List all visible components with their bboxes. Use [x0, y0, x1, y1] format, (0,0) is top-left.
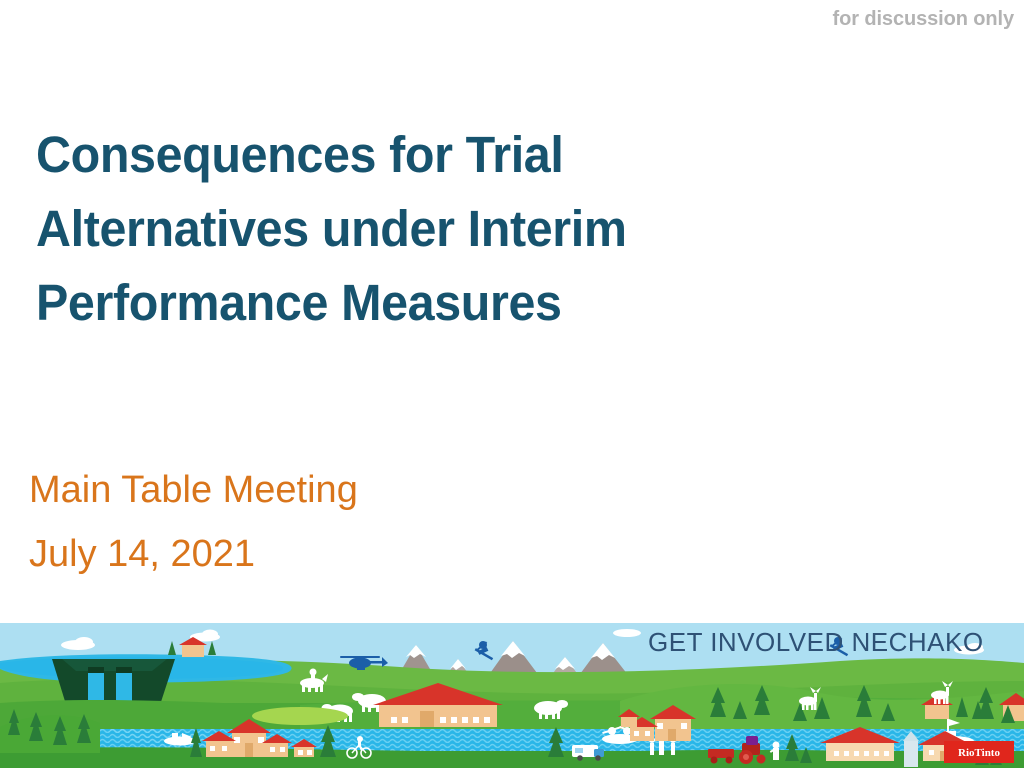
svg-text:RioTinto: RioTinto — [958, 747, 1000, 759]
meadow-patch — [252, 707, 348, 725]
discussion-only-note: for discussion only — [833, 8, 1014, 31]
title-line-3: Performance Measures — [36, 266, 730, 340]
subtitle: Main Table Meeting July 14, 2021 — [29, 458, 358, 586]
subtitle-date: July 14, 2021 — [29, 522, 358, 586]
title-line-1: Consequences for Trial — [36, 118, 730, 192]
page-title: Consequences for Trial Alternatives unde… — [36, 118, 766, 340]
nechako-banner-illustration: GET INVOLVED NECHAKO RioTinto — [0, 623, 1024, 768]
rio-tinto-logo: RioTinto — [944, 741, 1014, 763]
slide-canvas: for discussion only Consequences for Tri… — [0, 0, 1024, 768]
banner-headline: GET INVOLVED NECHAKO — [648, 627, 984, 657]
subtitle-meeting-name: Main Table Meeting — [29, 458, 358, 522]
title-line-2: Alternatives under Interim — [36, 192, 730, 266]
